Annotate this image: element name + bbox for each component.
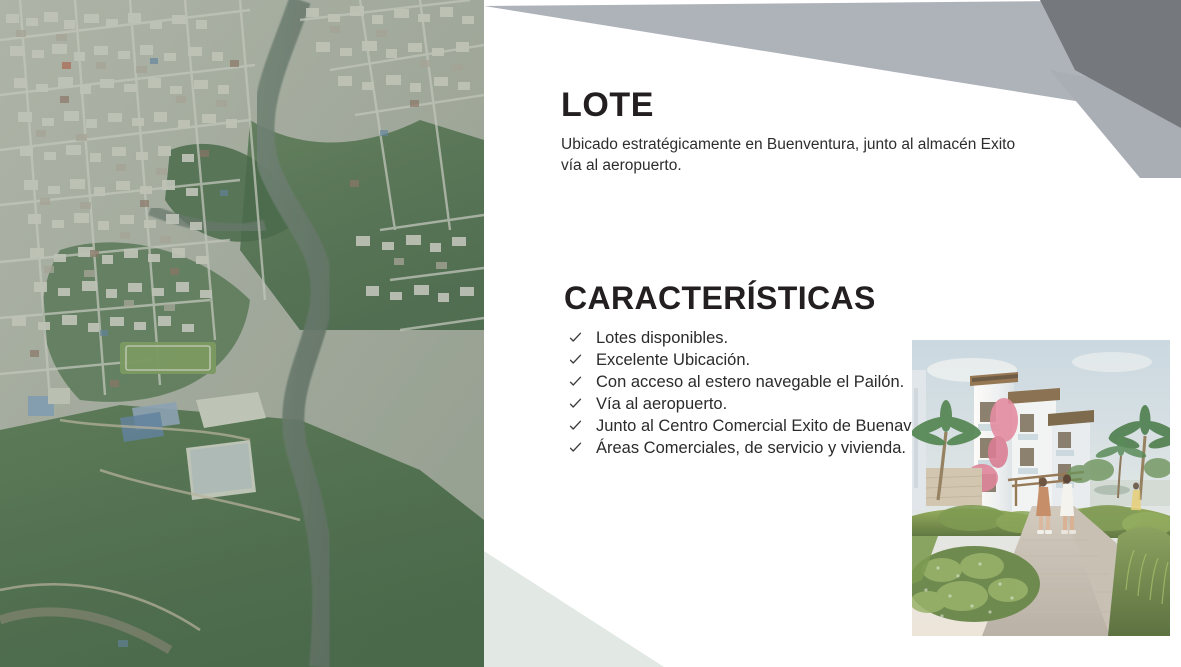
- list-item-label: Junto al Centro Comercial Exito de Buena…: [596, 417, 963, 435]
- list-item: Junto al Centro Comercial Exito de Buena…: [564, 416, 964, 437]
- caracteristicas-section: CARACTERÍSTICAS Lotes disponibles. Excel…: [564, 282, 964, 460]
- list-item-label: Áreas Comerciales, de servicio y viviend…: [596, 439, 906, 457]
- checkmark-icon: [569, 331, 582, 344]
- caracteristicas-title: CARACTERÍSTICAS: [564, 282, 964, 316]
- list-item-label: Lotes disponibles.: [596, 329, 728, 347]
- list-item: Áreas Comerciales, de servicio y viviend…: [564, 438, 964, 459]
- checkmark-icon: [569, 419, 582, 432]
- rendering-artwork: [912, 340, 1170, 636]
- features-list: Lotes disponibles. Excelente Ubicación. …: [564, 328, 964, 460]
- checkmark-icon: [569, 441, 582, 454]
- list-item: Lotes disponibles.: [564, 328, 964, 349]
- page-title: LOTE: [561, 88, 1051, 124]
- checkmark-icon: [569, 397, 582, 410]
- checkmark-icon: [569, 375, 582, 388]
- presentation-slide: LOTE Ubicado estratégicamente en Buenven…: [0, 0, 1181, 667]
- list-item-label: Excelente Ubicación.: [596, 351, 750, 369]
- satellite-map-panel: [0, 0, 484, 667]
- list-item: Con acceso al estero navegable el Pailón…: [564, 372, 964, 393]
- lote-section: LOTE Ubicado estratégicamente en Buenven…: [561, 88, 1051, 176]
- architectural-rendering-image: [912, 340, 1170, 636]
- checkmark-icon: [569, 353, 582, 366]
- satellite-aerial-map-image: [0, 0, 484, 667]
- list-item: Vía al aeropuerto.: [564, 394, 964, 415]
- list-item-label: Vía al aeropuerto.: [596, 395, 727, 413]
- lote-subtitle: Ubicado estratégicamente en Buenventura,…: [561, 134, 1039, 177]
- list-item: Excelente Ubicación.: [564, 350, 964, 371]
- list-item-label: Con acceso al estero navegable el Pailón…: [596, 373, 904, 391]
